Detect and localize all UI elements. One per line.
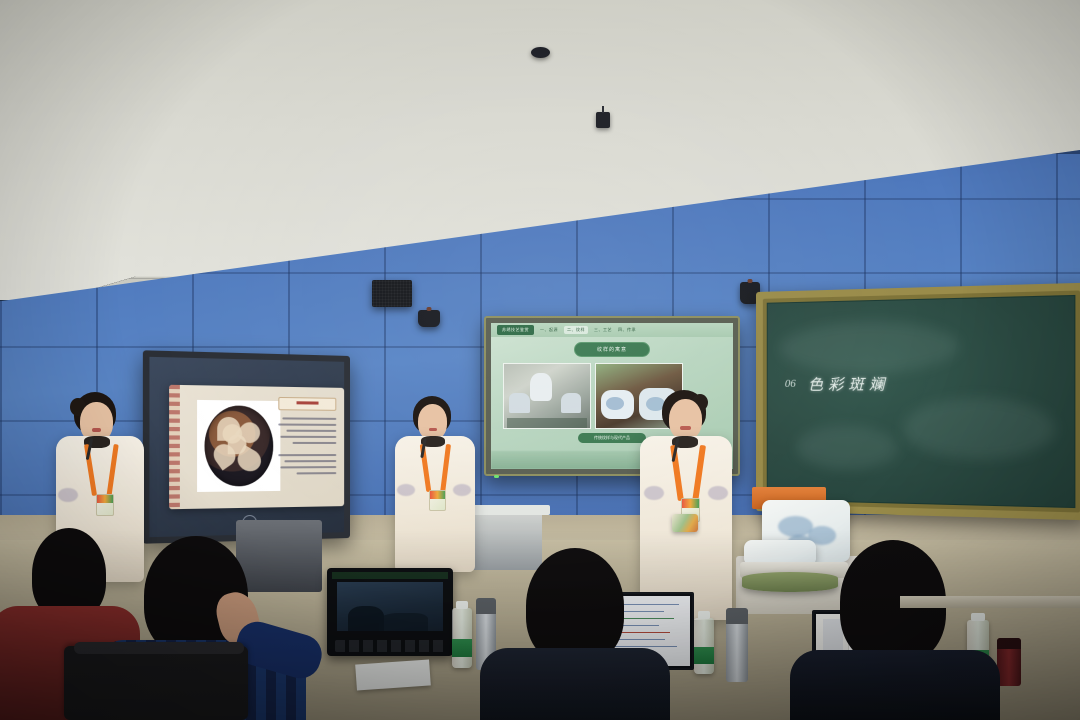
slide-nav-item-3[interactable]: 四、传承 [618, 327, 636, 333]
steel-thermos-2 [726, 608, 748, 682]
chalkboard-surface: 06 色彩斑斓 [767, 295, 1076, 508]
power-led-icon [494, 475, 499, 478]
audience-person-dark [800, 540, 990, 720]
mouth [429, 428, 437, 431]
ceiling-camera [596, 112, 610, 128]
wall-speaker [372, 280, 412, 307]
chair-rail [74, 642, 244, 654]
left-tv-display[interactable] [143, 350, 350, 543]
head [526, 548, 624, 664]
chalk-index: 06 [785, 378, 796, 390]
audience-person-navy [480, 548, 670, 720]
table-edge-right [900, 596, 1080, 608]
slide-title-banner [278, 397, 336, 411]
classroom-photo: 06 色彩斑斓 苏绣技艺鉴赏 一、起源 二、纹样 三、工艺 四、传承 纹样的寓意 [0, 0, 1080, 720]
mouth [92, 428, 101, 432]
slide-nav-brand: 苏绣技艺鉴赏 [497, 325, 534, 335]
presenter-center [389, 396, 481, 572]
wall-ptz-camera-left [418, 310, 440, 327]
left-display-screen[interactable] [149, 357, 344, 537]
head [418, 404, 447, 440]
slide-nav-item-1[interactable]: 二、纹样 [564, 326, 588, 334]
torso [790, 650, 1000, 720]
torso [480, 648, 670, 720]
sleeve-embroidery [397, 484, 415, 496]
green-chalkboard: 06 色彩斑斓 [756, 283, 1080, 521]
slide-nav-item-2[interactable]: 三、工艺 [594, 327, 612, 333]
chair-back [64, 646, 248, 720]
mouth [680, 426, 691, 430]
red-thermos [997, 638, 1021, 686]
chalkboard-frame: 06 色彩斑斓 [763, 290, 1080, 512]
id-badge [96, 494, 114, 516]
sleeve-embroidery [58, 488, 78, 502]
water-bottle-1 [452, 608, 472, 668]
sleeve-embroidery [644, 486, 664, 500]
chalk-handwriting: 色彩斑斓 [808, 373, 890, 395]
sleeve-embroidery [453, 484, 471, 496]
monitor-buttons[interactable] [335, 640, 446, 651]
sleeve-embroidery [708, 486, 728, 500]
embroidered-medallion-icon [205, 405, 274, 486]
slide-nav-item-0[interactable]: 一、起源 [540, 327, 558, 333]
water-bottle-2 [694, 618, 714, 674]
slide-border-ornament [169, 385, 180, 509]
id-badge [429, 490, 446, 511]
field-monitor[interactable] [327, 568, 453, 656]
left-display-slide [169, 385, 344, 509]
monitor-screen [337, 582, 443, 631]
ceiling-speaker [531, 47, 550, 58]
slide-photo-left [503, 363, 591, 429]
head [669, 399, 702, 440]
slide-section-title: 纹样的寓意 [574, 342, 650, 357]
medallion-photo [197, 400, 280, 492]
paper-sheet [355, 659, 431, 690]
monitor-status-bar [332, 572, 448, 580]
slide-nav-bar: 苏绣技艺鉴赏 一、起源 二、纹样 三、工艺 四、传承 [491, 323, 733, 337]
held-embroidered-pouch [672, 514, 698, 532]
